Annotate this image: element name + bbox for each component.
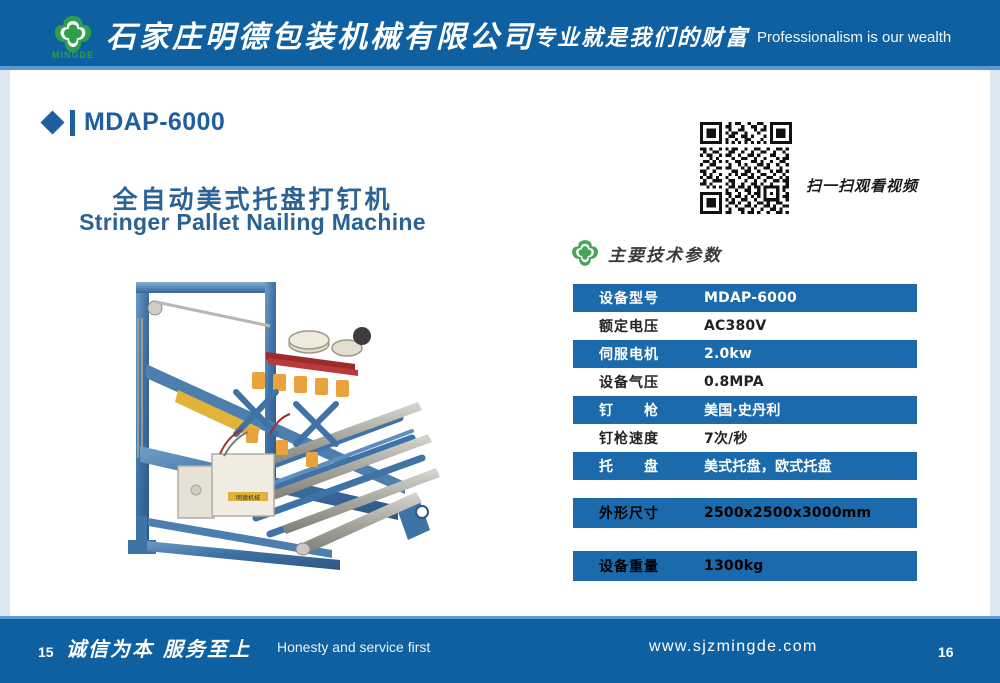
footer-slogan-cn: 诚信为本 服务至上: [66, 633, 251, 662]
table-row: 托 盘 美式托盘，欧式托盘: [573, 452, 917, 480]
footer-slogan-en: Honesty and service first: [277, 639, 430, 655]
spec-value: 0.8MPA: [698, 374, 917, 390]
table-row: 设备重量 1300kg: [573, 551, 917, 581]
header-tagline-cn: 专业就是我们的财富: [533, 20, 749, 52]
product-code: MDAP-6000: [84, 108, 225, 137]
footer-website[interactable]: www.sjzmingde.com: [649, 638, 818, 656]
page-number-left: 15: [38, 644, 54, 660]
diamond-bullet-icon: [40, 110, 64, 134]
spec-heading: 主要技术参数: [570, 238, 722, 268]
qr-code-icon[interactable]: [700, 122, 792, 214]
spec-label: 外形尺寸: [573, 503, 698, 523]
table-row: 外形尺寸 2500x2500x3000mm: [573, 498, 917, 528]
page-margin-left: [0, 0, 10, 683]
page-header: 石家庄明德包装机械有限公司 MINGDE 专业就是我们的财富 Professio…: [0, 0, 1000, 66]
product-code-row: MDAP-6000: [44, 108, 225, 137]
table-row: 伺服电机 2.0kw: [573, 340, 917, 368]
qr-caption: 扫一扫观看视频: [806, 141, 918, 196]
table-row: 钉枪速度 7次/秒: [573, 424, 917, 452]
product-photo: 明德机械: [100, 268, 485, 573]
table-row: 钉 枪 美国·史丹利: [573, 396, 917, 424]
spec-value: AC380V: [698, 318, 917, 334]
spec-weight-row: 设备重量 1300kg: [573, 551, 917, 581]
spec-size-row: 外形尺寸 2500x2500x3000mm: [573, 498, 917, 528]
page-number-right: 16: [938, 644, 954, 660]
spec-label: 设备气压: [573, 372, 698, 392]
spec-value: MDAP-6000: [698, 290, 917, 306]
spec-value: 2.0kw: [698, 346, 917, 362]
table-row: 设备气压 0.8MPA: [573, 368, 917, 396]
company-name-cn: 石家庄明德包装机械有限公司: [106, 12, 535, 56]
spec-label: 设备重量: [573, 556, 698, 576]
header-tagline-en: Professionalism is our wealth: [757, 29, 951, 46]
spec-value: 美式托盘，欧式托盘: [698, 456, 917, 476]
spec-value: 7次/秒: [698, 428, 917, 448]
table-row: 设备型号 MDAP-6000: [573, 284, 917, 312]
vertical-bar-divider: [70, 110, 75, 136]
spec-label: 钉枪速度: [573, 428, 698, 448]
flower-blossom-icon: [570, 238, 600, 268]
spec-label: 伺服电机: [573, 344, 698, 364]
svg-text:明德机械: 明德机械: [236, 494, 260, 502]
page-margin-right: [990, 0, 1000, 683]
spec-value: 美国·史丹利: [698, 400, 917, 420]
header-divider: [0, 66, 1000, 70]
spec-value: 2500x2500x3000mm: [698, 505, 917, 521]
spec-label: 额定电压: [573, 316, 698, 336]
spec-value: 1300kg: [698, 558, 917, 574]
spec-label: 托 盘: [573, 456, 698, 476]
product-title-en: Stringer Pallet Nailing Machine: [0, 209, 505, 236]
catalog-page: 石家庄明德包装机械有限公司 MINGDE 专业就是我们的财富 Professio…: [0, 0, 1000, 683]
spec-table: 设备型号 MDAP-6000 额定电压 AC380V 伺服电机 2.0kw 设备…: [573, 284, 917, 480]
spec-label: 设备型号: [573, 288, 698, 308]
spec-label: 钉 枪: [573, 400, 698, 420]
qr-block: 扫一扫观看视频: [700, 122, 918, 214]
flower-blossom-icon: [52, 13, 94, 55]
spec-heading-text: 主要技术参数: [608, 241, 722, 266]
logo-wordmark: MINGDE: [52, 50, 94, 60]
brand-lockup: 石家庄明德包装机械有限公司: [52, 12, 535, 56]
table-row: 额定电压 AC380V: [573, 312, 917, 340]
